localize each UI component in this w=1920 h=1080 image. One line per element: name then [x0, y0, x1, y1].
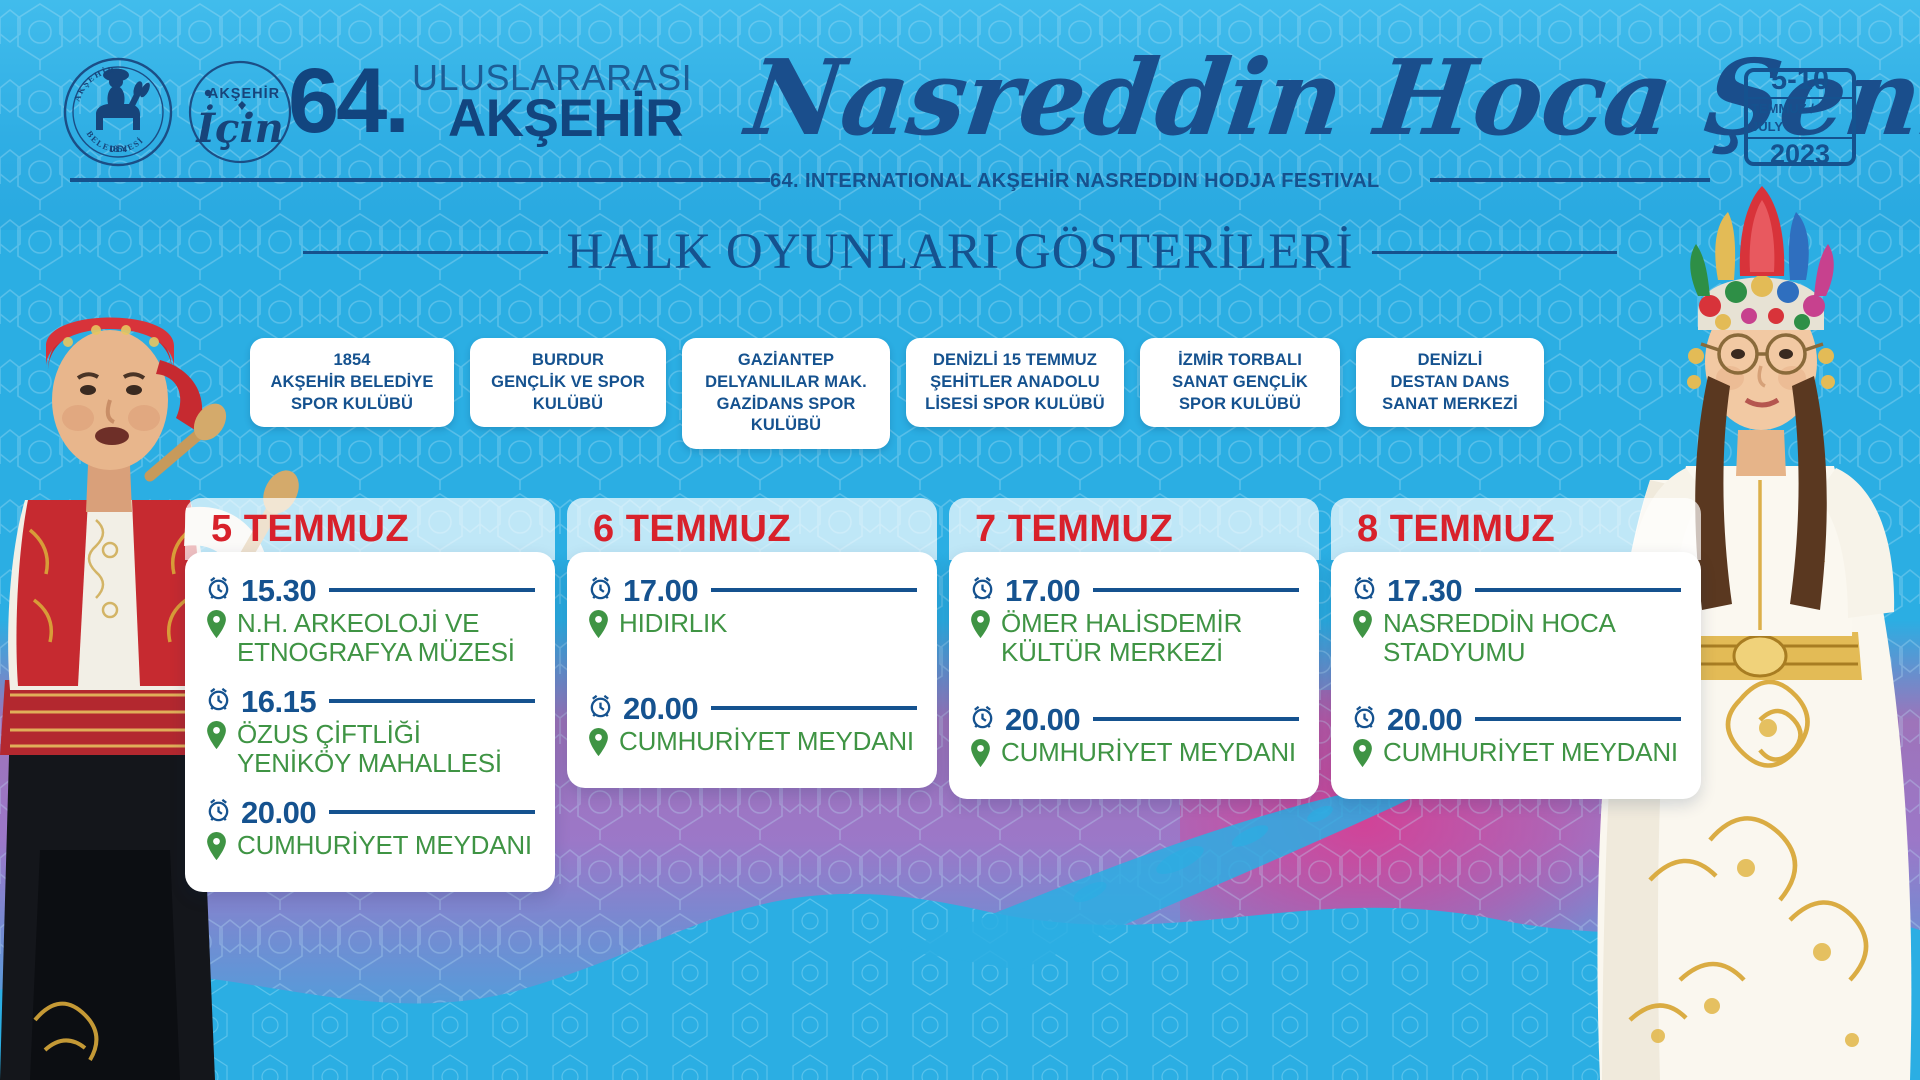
day-header: 5 TEMMUZ [185, 498, 555, 560]
day-column: 8 TEMMUZ 17.30 NASREDDİN [1331, 498, 1701, 892]
aksehir-icin-logo: AKŞEHİR İçin [186, 58, 294, 166]
location-pin-icon [969, 738, 992, 773]
event-time: 16.15 [241, 686, 316, 717]
event-item: 20.00 CUMHURİYET MEYDANI [969, 703, 1299, 773]
header-rule-right [1430, 178, 1710, 182]
time-underline [329, 699, 535, 703]
event-time-row: 16.15 [205, 685, 535, 717]
day-events: 15.30 N.H. ARKEOLOJİ VE ETNOGRAFYA MÜZES… [185, 552, 555, 892]
location-pin-icon [1351, 738, 1374, 773]
day-column: 6 TEMMUZ 17.00 HIDIRLIK [567, 498, 937, 892]
aksehir-municipality-seal-logo: AKŞEHİR BELEDİYESİ 1854 [62, 56, 174, 168]
club-card: DENİZLİ 15 TEMMUZŞEHİTLER ANADOLULİSESİ … [906, 338, 1124, 427]
alarm-clock-icon [1351, 703, 1378, 735]
day-column: 7 TEMMUZ 17.00 ÖMER HALİS [949, 498, 1319, 892]
event-time: 20.00 [623, 693, 698, 724]
event-item: 17.00 ÖMER HALİSDEMİR KÜLTÜR MERKEZİ [969, 574, 1299, 667]
date-range: 5-10 [1771, 66, 1829, 95]
festival-date-badge: 5-10 TEMMUZ / JULY 2023 [1744, 68, 1856, 166]
edition-number: 64. [288, 55, 407, 147]
alarm-clock-icon [205, 796, 232, 828]
svg-text:1854: 1854 [109, 144, 128, 154]
event-item: 20.00 CUMHURİYET MEYDANI [1351, 703, 1681, 773]
event-time-row: 17.00 [969, 574, 1299, 606]
event-place: N.H. ARKEOLOJİ VE ETNOGRAFYA MÜZESİ [237, 609, 535, 667]
club-card: DENİZLİDESTAN DANSSANAT MERKEZİ [1356, 338, 1544, 427]
poster-header: AKŞEHİR BELEDİYESİ 1854 AKŞEHİR İçin 64.… [0, 0, 1920, 215]
club-card: GAZİANTEPDELYANLILAR MAK.GAZİDANS SPORKU… [682, 338, 890, 449]
day-events: 17.00 ÖMER HALİSDEMİR KÜLTÜR MERKEZİ [949, 552, 1319, 799]
location-pin-icon [587, 609, 610, 644]
event-place-row: CUMHURİYET MEYDANI [205, 831, 535, 866]
event-time-row: 20.00 [969, 703, 1299, 735]
event-place: ÖZUS ÇİFTLİĞİ YENİKÖY MAHALLESİ [237, 720, 535, 778]
event-time: 17.00 [623, 575, 698, 606]
svg-text:AKŞEHİR: AKŞEHİR [208, 85, 280, 102]
section-title-row: HALK OYUNLARI GÖSTERİLERİ [0, 222, 1920, 282]
section-title: HALK OYUNLARI GÖSTERİLERİ [566, 223, 1353, 281]
location-pin-icon [205, 609, 228, 644]
schedule-columns: 5 TEMMUZ 15.30 N.H. ARKEO [185, 498, 1745, 892]
alarm-clock-icon [969, 574, 996, 606]
festival-poster: AKŞEHİR BELEDİYESİ 1854 AKŞEHİR İçin 64.… [0, 0, 1920, 1080]
day-column: 5 TEMMUZ 15.30 N.H. ARKEO [185, 498, 555, 892]
event-time: 17.30 [1387, 575, 1462, 606]
location-pin-icon [969, 609, 992, 644]
day-header: 8 TEMMUZ [1331, 498, 1701, 560]
event-place-row: CUMHURİYET MEYDANI [1351, 738, 1681, 773]
event-item: 16.15 ÖZUS ÇİFTLİĞİ YENİKÖY MAHALLESİ [205, 685, 535, 778]
date-year: 2023 [1770, 141, 1830, 168]
day-label: 6 TEMMUZ [593, 508, 791, 551]
time-underline [1475, 717, 1681, 721]
event-item: 20.00 CUMHURİYET MEYDANI [587, 692, 917, 762]
svg-text:İçin: İçin [195, 105, 283, 152]
event-time-row: 20.00 [1351, 703, 1681, 735]
day-label: 7 TEMMUZ [975, 508, 1173, 551]
event-place-row: CUMHURİYET MEYDANI [969, 738, 1299, 773]
city-name-label: AKŞEHİR [448, 92, 683, 145]
day-header: 7 TEMMUZ [949, 498, 1319, 560]
section-line-right [1372, 251, 1617, 254]
time-underline [1093, 717, 1299, 721]
day-label: 8 TEMMUZ [1357, 508, 1555, 551]
time-underline [1475, 588, 1681, 592]
event-place-row: N.H. ARKEOLOJİ VE ETNOGRAFYA MÜZESİ [205, 609, 535, 667]
club-card: BURDURGENÇLİK VE SPORKULÜBÜ [470, 338, 666, 427]
participating-clubs-list: 1854AKŞEHİR BELEDİYESPOR KULÜBÜ BURDURGE… [250, 338, 1670, 449]
time-underline [329, 810, 535, 814]
alarm-clock-icon [587, 692, 614, 724]
event-time: 20.00 [1387, 704, 1462, 735]
event-time-row: 15.30 [205, 574, 535, 606]
time-underline [1093, 588, 1299, 592]
event-item: 17.30 NASREDDİN HOCA STADYUMU [1351, 574, 1681, 667]
event-time: 15.30 [241, 575, 316, 606]
event-time: 20.00 [241, 797, 316, 828]
location-pin-icon [587, 727, 610, 762]
alarm-clock-icon [969, 703, 996, 735]
event-place: CUMHURİYET MEYDANI [237, 831, 532, 860]
event-item: 17.00 HIDIRLIK [587, 574, 917, 644]
club-card: 1854AKŞEHİR BELEDİYESPOR KULÜBÜ [250, 338, 454, 427]
event-time: 20.00 [1005, 704, 1080, 735]
time-underline [329, 588, 535, 592]
event-place: CUMHURİYET MEYDANI [619, 727, 914, 756]
event-time-row: 17.30 [1351, 574, 1681, 606]
alarm-clock-icon [1351, 574, 1378, 606]
event-place: CUMHURİYET MEYDANI [1383, 738, 1678, 767]
alarm-clock-icon [205, 574, 232, 606]
event-place-row: NASREDDİN HOCA STADYUMU [1351, 609, 1681, 667]
event-place-row: CUMHURİYET MEYDANI [587, 727, 917, 762]
event-place-row: ÖMER HALİSDEMİR KÜLTÜR MERKEZİ [969, 609, 1299, 667]
event-item: 20.00 CUMHURİYET MEYDANI [205, 796, 535, 866]
section-line-left [303, 251, 548, 254]
event-time-row: 20.00 [205, 796, 535, 828]
day-events: 17.30 NASREDDİN HOCA STADYUMU [1331, 552, 1701, 799]
time-underline [711, 706, 917, 710]
event-place-row: HIDIRLIK [587, 609, 917, 644]
club-card: İZMİR TORBALISANAT GENÇLİKSPOR KULÜBÜ [1140, 338, 1340, 427]
alarm-clock-icon [205, 685, 232, 717]
day-label: 5 TEMMUZ [211, 508, 409, 551]
event-time-row: 17.00 [587, 574, 917, 606]
event-time: 17.00 [1005, 575, 1080, 606]
event-place: ÖMER HALİSDEMİR KÜLTÜR MERKEZİ [1001, 609, 1299, 667]
day-header: 6 TEMMUZ [567, 498, 937, 560]
time-underline [711, 588, 917, 592]
event-place-row: ÖZUS ÇİFTLİĞİ YENİKÖY MAHALLESİ [205, 720, 535, 778]
festival-subtitle-english: 64. INTERNATIONAL AKŞEHİR NASREDDIN HODJ… [770, 170, 1380, 193]
date-month: TEMMUZ / JULY [1748, 97, 1852, 138]
location-pin-icon [205, 720, 228, 755]
event-item: 15.30 N.H. ARKEOLOJİ VE ETNOGRAFYA MÜZES… [205, 574, 535, 667]
location-pin-icon [205, 831, 228, 866]
event-time-row: 20.00 [587, 692, 917, 724]
event-place: HIDIRLIK [619, 609, 727, 638]
location-pin-icon [1351, 609, 1374, 644]
alarm-clock-icon [587, 574, 614, 606]
header-rule-left [70, 178, 770, 182]
day-events: 17.00 HIDIRLIK 20.0 [567, 552, 937, 788]
event-place: CUMHURİYET MEYDANI [1001, 738, 1296, 767]
event-place: NASREDDİN HOCA STADYUMU [1383, 609, 1681, 667]
